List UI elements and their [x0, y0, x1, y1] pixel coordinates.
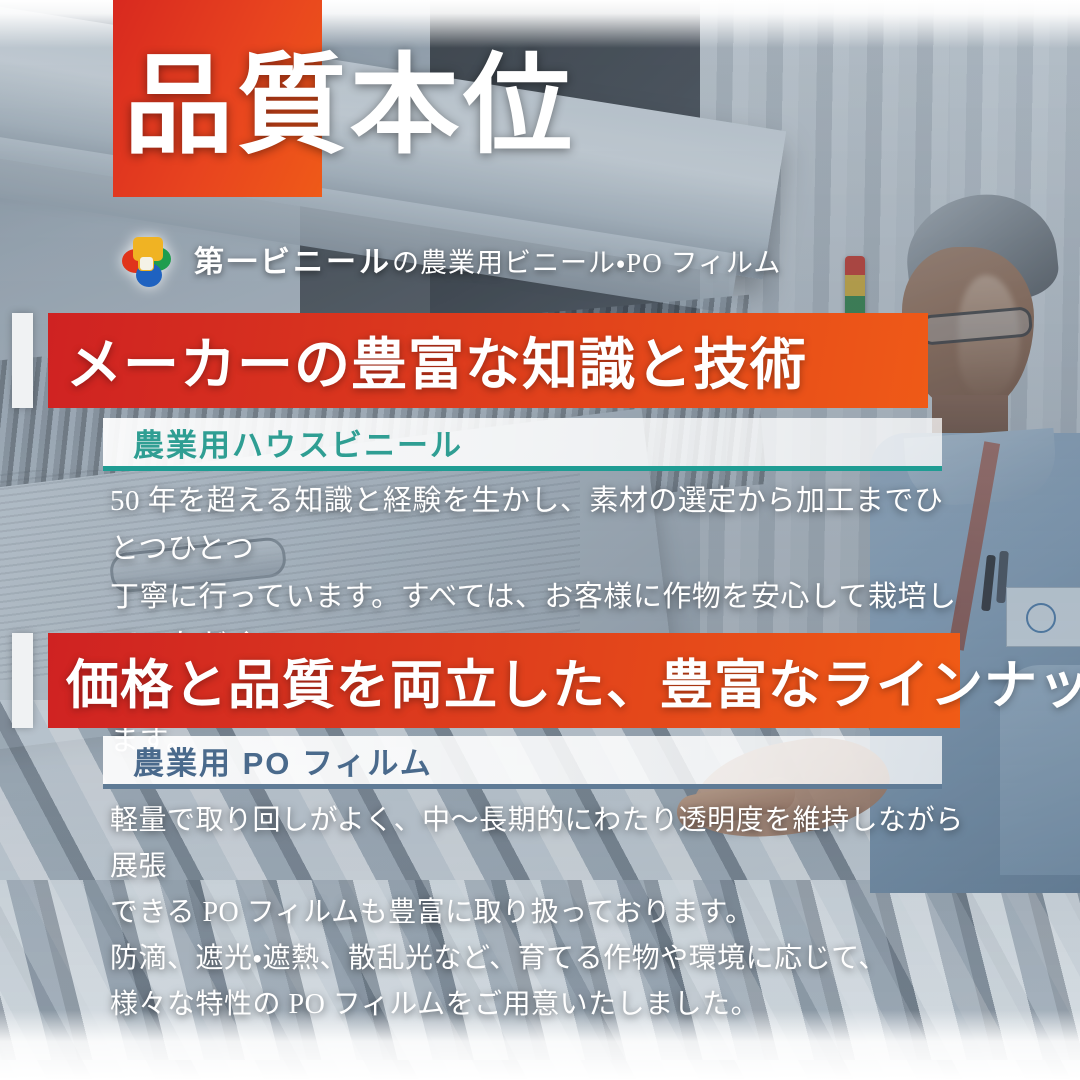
content-layer: 品質本位 第一ビニールの農業用ビニール・PO フィルム メーカーの豊富な知識と技… — [0, 0, 1080, 1080]
body-text-po: 軽量で取り回しがよく、中〜長期的にわたり透明度を維持しながら展張 できる PO … — [110, 798, 970, 1028]
promo-banner-root: 品質本位 第一ビニールの農業用ビニール・PO フィルム メーカーの豊富な知識と技… — [0, 0, 1080, 1080]
dai-ichi-vinyl-flower-logo-icon — [116, 231, 176, 287]
body-line: できる PO フィルムも豊富に取り扱っております。 — [110, 890, 970, 936]
subheading-band-vinyl: 農業用ハウスビニール — [103, 418, 942, 466]
subheading-rule-po — [103, 784, 942, 789]
body-line: 軽量で取り回しがよく、中〜長期的にわたり透明度を維持しながら展張 — [110, 798, 970, 890]
brand-row: 第一ビニールの農業用ビニール・PO フィルム — [116, 231, 781, 287]
accent-bar-section-2 — [12, 633, 33, 728]
accent-bar-section-1 — [12, 313, 33, 408]
hero-title: 品質本位 — [124, 52, 576, 161]
brand-text-group: 第一ビニールの農業用ビニール・PO フィルム — [194, 237, 781, 281]
section-banner-2: 価格と品質を両立した、豊富なラインナップ — [48, 633, 960, 728]
body-line: 50 年を超える知識と経験を生かし、素材の選定から加工までひとつひとつ — [110, 477, 970, 573]
body-line: 様々な特性の PO フィルムをご用意いたしました。 — [110, 982, 970, 1028]
body-line: 防滴、遮光・遮熱、散乱光など、育てる作物や環境に応じて、 — [110, 936, 970, 982]
subheading-rule-vinyl — [103, 466, 942, 471]
subheading-label-po: 農業用 PO フィルム — [133, 738, 433, 783]
subheading-band-po: 農業用 PO フィルム — [103, 736, 942, 784]
section-banner-1: メーカーの豊富な知識と技術 — [48, 313, 928, 408]
brand-tagline: の農業用ビニール・PO フィルム — [392, 248, 781, 278]
brand-company-name: 第一ビニール — [194, 246, 392, 279]
subheading-label-vinyl: 農業用ハウスビニール — [133, 420, 463, 465]
